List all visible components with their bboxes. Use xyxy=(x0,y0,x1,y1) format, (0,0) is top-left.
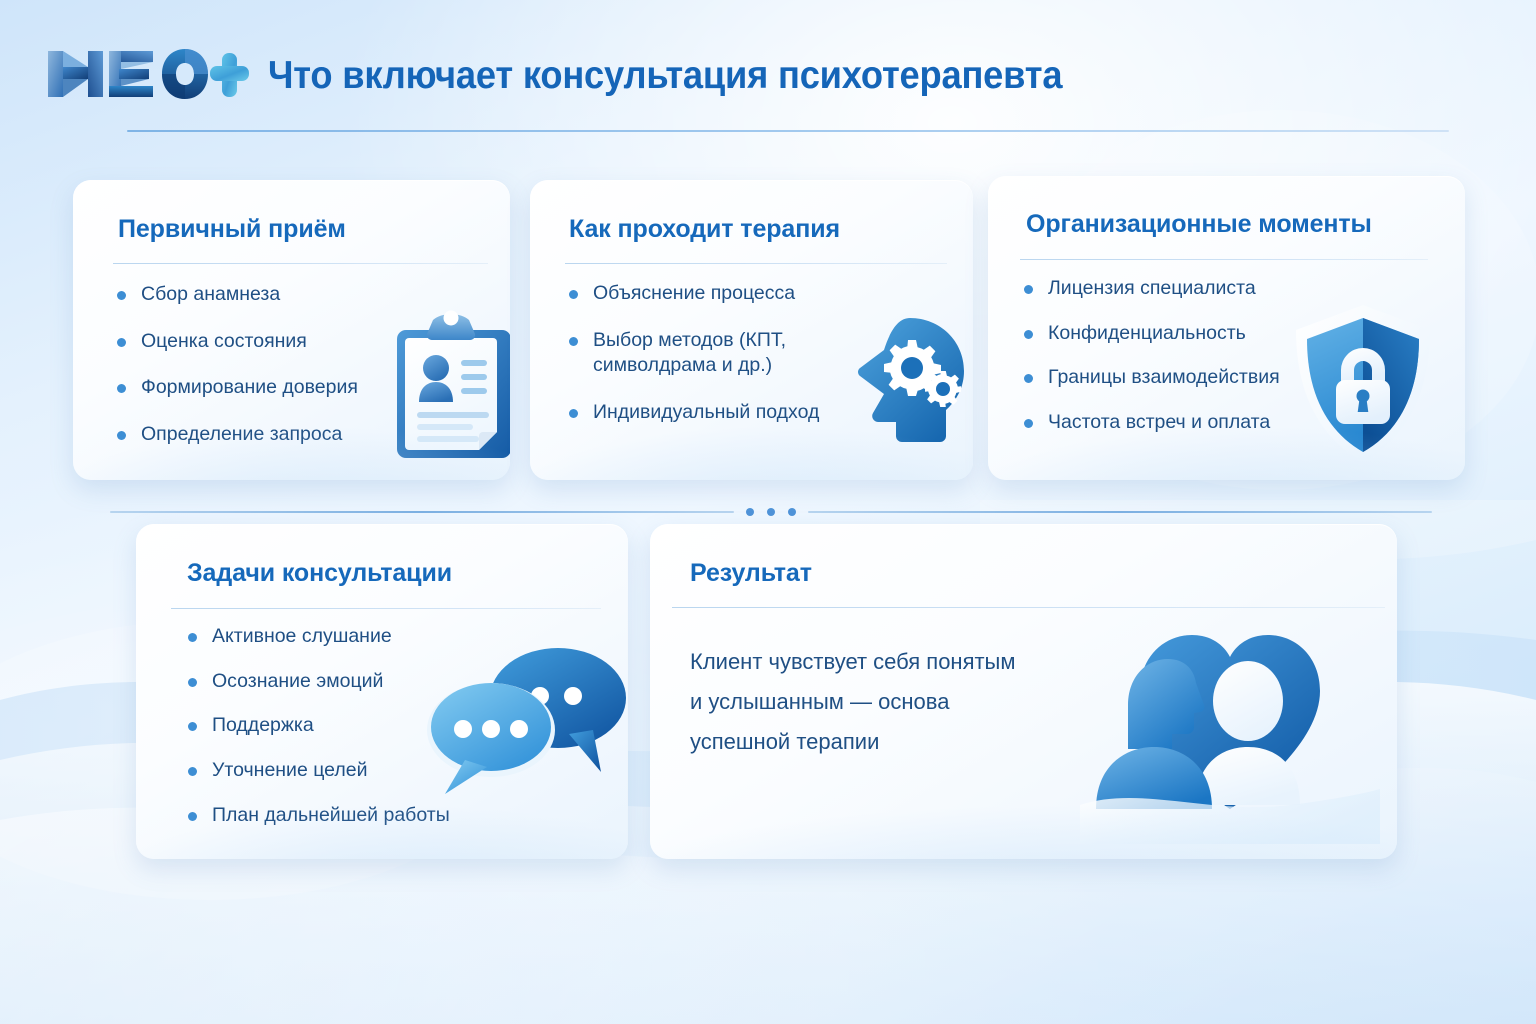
card-how-therapy-works[interactable]: Как проходит терапия Объяснение процесса… xyxy=(530,180,973,480)
bullet-list: Объяснение процесса Выбор методов (КПТ, … xyxy=(567,281,867,447)
card-title-divider xyxy=(672,607,1385,608)
header-divider xyxy=(127,130,1449,132)
neo-plus-logo-icon xyxy=(44,43,252,105)
card-organizational-details[interactable]: Организационные моменты Лицензия специал… xyxy=(988,176,1465,480)
divider-line-right xyxy=(808,511,1432,513)
card-title-divider xyxy=(1020,259,1428,260)
card-result[interactable]: Результат Клиент чувствует себя понятым … xyxy=(650,524,1397,859)
divider-dots xyxy=(734,508,808,516)
card-title: Организационные моменты xyxy=(1026,210,1372,239)
list-item: Лицензия специалиста xyxy=(1022,276,1352,302)
card-title: Как проходит терапия xyxy=(569,215,840,244)
shield-lock-icon xyxy=(1288,301,1438,466)
result-body-text: Клиент чувствует себя понятым и услышанн… xyxy=(690,642,1130,762)
list-item: Объяснение процесса xyxy=(567,281,867,307)
list-item: План дальнейшей работы xyxy=(186,803,516,829)
heart-people-icon xyxy=(1080,609,1380,844)
speech-bubbles-icon xyxy=(421,634,628,799)
list-item: Выбор методов (КПТ, символдрама и др.) xyxy=(567,328,867,379)
card-consultation-tasks[interactable]: Задачи консультации Активное слушание Ос… xyxy=(136,524,628,859)
card-title-divider xyxy=(113,263,488,264)
divider-dot xyxy=(788,508,796,516)
page-title: Что включает консультация психотерапевта xyxy=(268,56,1062,95)
card-title: Первичный приём xyxy=(118,215,346,244)
section-divider xyxy=(110,505,1432,519)
divider-dot xyxy=(746,508,754,516)
card-title-divider xyxy=(171,608,601,609)
card-primary-intake[interactable]: Первичный приём Сбор анамнеза Оценка сос… xyxy=(73,180,510,480)
card-title-divider xyxy=(565,263,947,264)
divider-line-left xyxy=(110,511,734,513)
page-header: Что включает консультация психотерапевта xyxy=(44,38,1444,146)
divider-dot xyxy=(767,508,775,516)
head-gears-icon xyxy=(832,310,973,460)
card-title: Результат xyxy=(690,559,812,588)
list-item: Индивидуальный подход xyxy=(567,400,867,426)
clipboard-person-icon xyxy=(389,304,510,464)
card-title: Задачи консультации xyxy=(187,559,452,588)
